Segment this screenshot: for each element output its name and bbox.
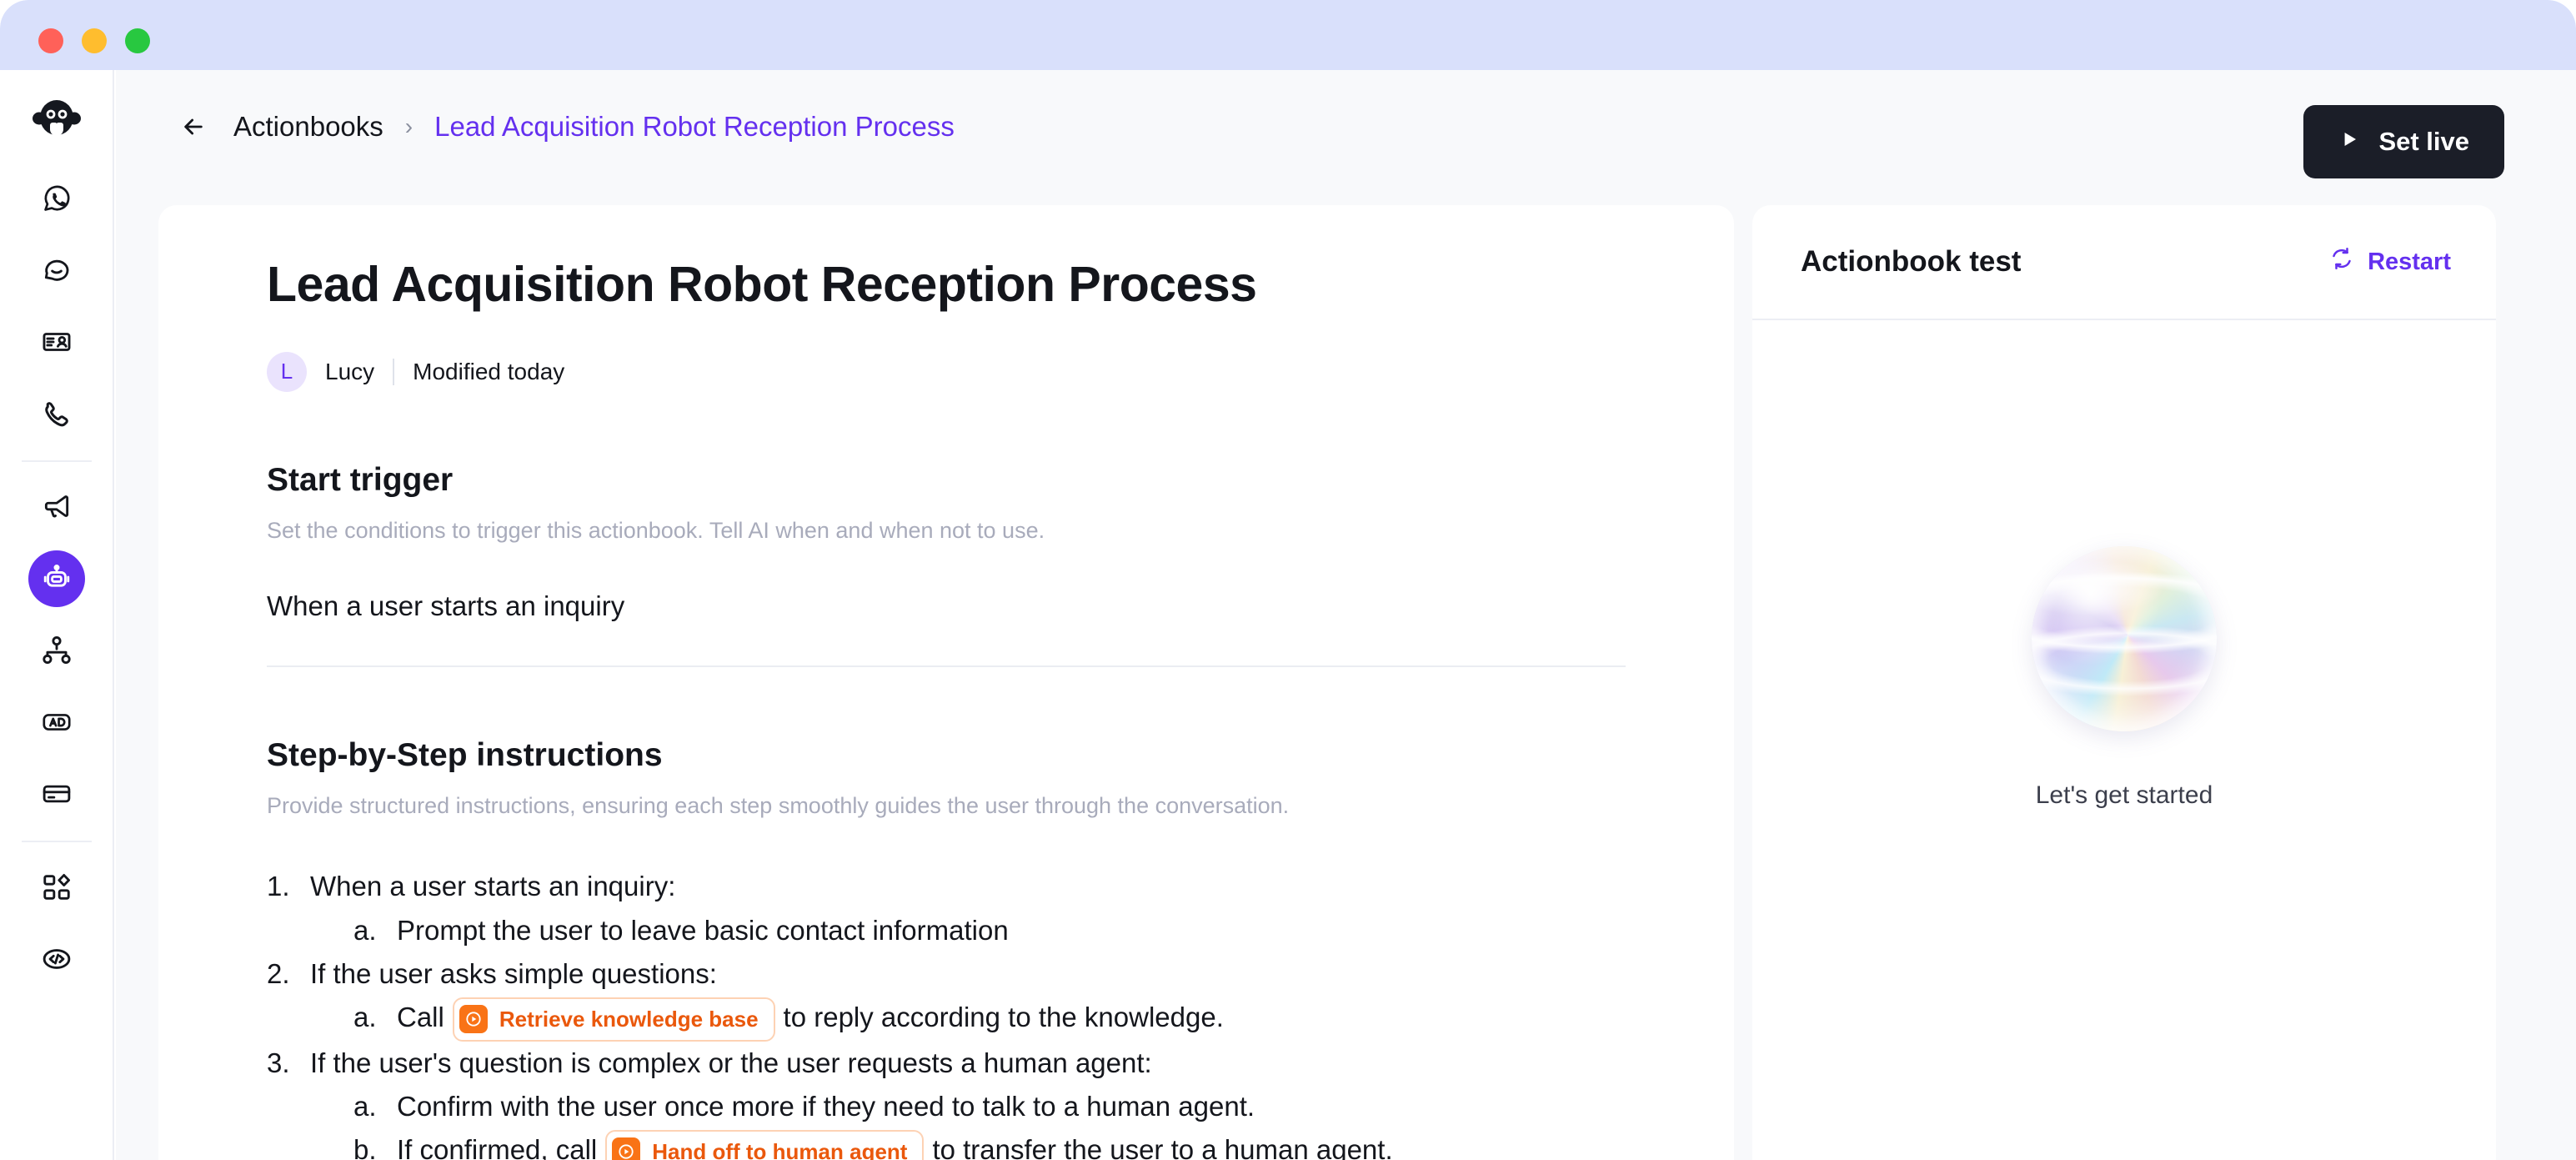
test-panel-body: Let's get started (1752, 320, 2496, 1160)
instruction-step[interactable]: If the user asks simple questions:CallRe… (267, 952, 1626, 1042)
arrow-left-icon[interactable] (175, 108, 212, 145)
start-trigger-section: Start trigger Set the conditions to trig… (267, 462, 1626, 667)
substep-text-before: Prompt the user to leave basic contact i… (397, 915, 1009, 946)
action-chip-label: Retrieve knowledge base (499, 1002, 759, 1037)
page-title: Lead Acquisition Robot Reception Process (267, 257, 1626, 314)
start-trigger-description: Set the conditions to trigger this actio… (267, 515, 1626, 547)
sidebar-item-actionbooks[interactable] (28, 550, 85, 607)
iridescent-orb-icon (2032, 546, 2217, 731)
sidebar-item-ads[interactable] (28, 694, 85, 751)
sidebar-item-contacts[interactable] (28, 314, 85, 370)
page-topbar: Actionbooks › Lead Acquisition Robot Rec… (116, 70, 2576, 205)
breadcrumb-current[interactable]: Lead Acquisition Robot Reception Process (434, 111, 955, 143)
actionbook-document: Lead Acquisition Robot Reception Process… (158, 205, 1734, 1160)
breadcrumb-parent[interactable]: Actionbooks (233, 111, 383, 143)
traffic-lights (38, 28, 150, 53)
sidebar-item-billing[interactable] (28, 766, 85, 822)
sidebar-item-calls[interactable] (28, 385, 85, 442)
instruction-substep[interactable]: Prompt the user to leave basic contact i… (353, 909, 1626, 952)
substep-text-after: to reply according to the knowledge. (784, 1002, 1224, 1032)
instruction-step[interactable]: If the user's question is complex or the… (267, 1042, 1626, 1160)
breadcrumb: Actionbooks › Lead Acquisition Robot Rec… (175, 108, 955, 145)
start-trigger-heading: Start trigger (267, 462, 1626, 499)
panels: Lead Acquisition Robot Reception Process… (116, 205, 2576, 1160)
sidebar-item-flows[interactable] (28, 622, 85, 679)
minimize-button[interactable] (82, 28, 107, 53)
author-name: Lucy (325, 359, 374, 385)
restart-label: Restart (2368, 249, 2451, 276)
start-trigger-value[interactable]: When a user starts an inquiry (267, 590, 1626, 622)
actionbook-test-panel: Actionbook test Restart (1752, 205, 2496, 1160)
instruction-step[interactable]: When a user starts an inquiry:Prompt the… (267, 865, 1626, 952)
instruction-substep[interactable]: CallRetrieve knowledge baseto reply acco… (353, 996, 1626, 1042)
instructions-section: Step-by-Step instructions Provide struct… (267, 737, 1626, 1160)
sidebar (0, 70, 114, 1160)
test-panel-header: Actionbook test Restart (1752, 205, 2496, 320)
instruction-substeps: Confirm with the user once more if they … (310, 1085, 1626, 1160)
breadcrumb-separator: › (405, 113, 413, 140)
restart-button[interactable]: Restart (2329, 246, 2451, 278)
set-live-label: Set live (2378, 127, 2469, 157)
empty-state-caption: Let's get started (2036, 781, 2213, 810)
action-chip[interactable]: Hand off to human agent (605, 1130, 924, 1160)
substep-text-after: to transfer the user to a human agent. (932, 1134, 1392, 1160)
zoom-button[interactable] (125, 28, 150, 53)
test-panel-title: Actionbook test (1801, 245, 2021, 279)
action-chip[interactable]: Retrieve knowledge base (453, 997, 775, 1042)
sidebar-item-whatsapp[interactable] (28, 170, 85, 227)
sidebar-item-apps[interactable] (28, 859, 85, 916)
meta-divider (393, 359, 394, 385)
instruction-steps: When a user starts an inquiry:Prompt the… (267, 865, 1626, 1160)
set-live-button[interactable]: Set live (2303, 105, 2504, 178)
substep-text-before: If confirmed, call (397, 1134, 597, 1160)
instruction-step-text: If the user asks simple questions: (310, 958, 717, 989)
instruction-substeps: CallRetrieve knowledge baseto reply acco… (310, 996, 1626, 1042)
sidebar-item-developers[interactable] (28, 931, 85, 987)
instructions-heading: Step-by-Step instructions (267, 737, 1626, 774)
close-button[interactable] (38, 28, 63, 53)
modified-label: Modified today (413, 359, 564, 385)
play-circle-icon (612, 1137, 640, 1160)
instruction-step-text: When a user starts an inquiry: (310, 871, 675, 901)
substep-text-before: Call (397, 1002, 444, 1032)
action-chip-label: Hand off to human agent (652, 1135, 907, 1160)
section-divider (267, 665, 1626, 667)
sidebar-item-chat[interactable] (28, 242, 85, 299)
instruction-substeps: Prompt the user to leave basic contact i… (310, 909, 1626, 952)
workspace: Actionbooks › Lead Acquisition Robot Rec… (116, 70, 2576, 1160)
window-titlebar (0, 0, 2576, 70)
play-circle-icon (459, 1005, 488, 1033)
avatar: L (267, 352, 307, 392)
sidebar-divider (22, 460, 92, 462)
instruction-substep[interactable]: Confirm with the user once more if they … (353, 1085, 1626, 1128)
sidebar-divider (22, 841, 92, 842)
play-icon (2338, 127, 2360, 157)
monkey-logo[interactable] (29, 90, 84, 145)
refresh-icon (2329, 246, 2354, 278)
document-meta: L Lucy Modified today (267, 352, 1626, 392)
sidebar-item-campaigns[interactable] (28, 479, 85, 535)
instructions-description: Provide structured instructions, ensurin… (267, 791, 1626, 822)
instruction-step-text: If the user's question is complex or the… (310, 1047, 1152, 1078)
app-window: Actionbooks › Lead Acquisition Robot Rec… (0, 0, 2576, 1160)
substep-text-before: Confirm with the user once more if they … (397, 1091, 1255, 1122)
instruction-substep[interactable]: If confirmed, callHand off to human agen… (353, 1128, 1626, 1160)
